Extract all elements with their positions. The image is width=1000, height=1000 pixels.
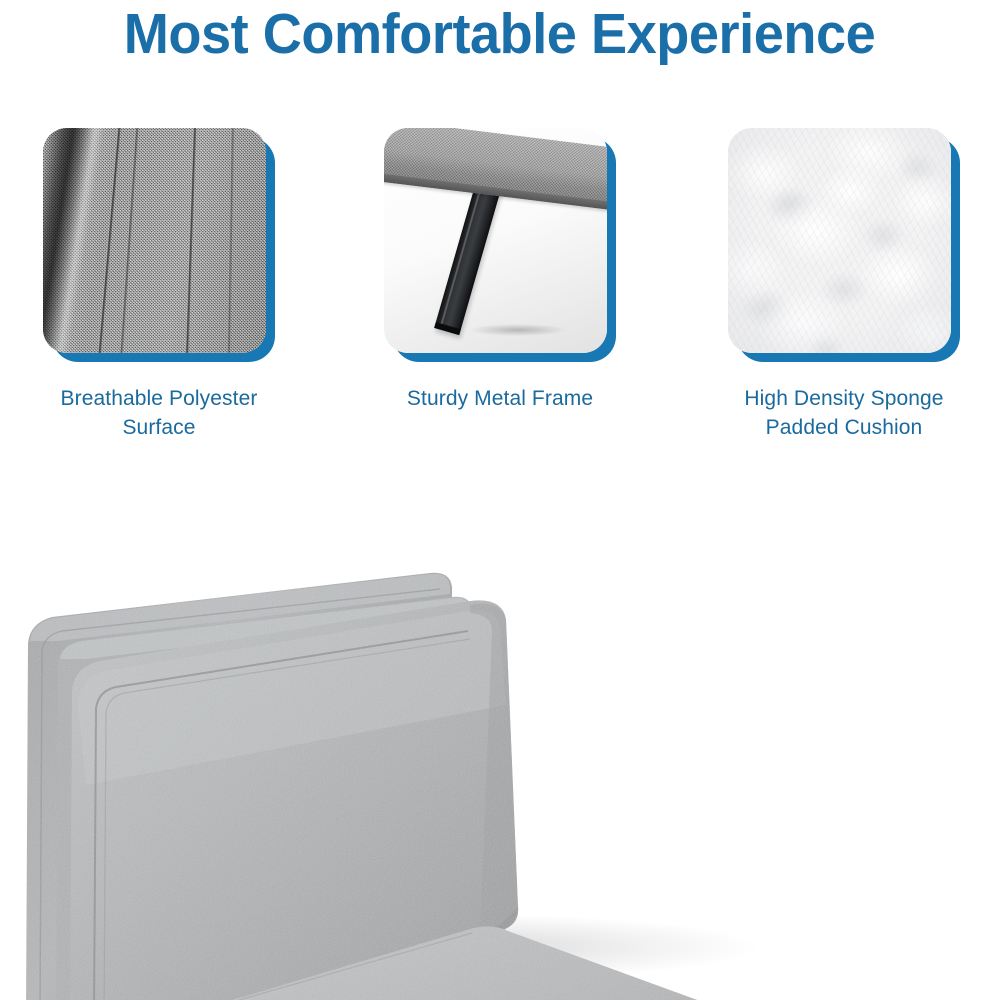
feature-thumbnail-wrap: [384, 128, 616, 362]
polyester-fabric-image: [43, 128, 266, 353]
feature-caption-line: Breathable Polyester: [20, 384, 298, 413]
feature-card-high-density-sponge-padded-cushion: High Density Sponge Padded Cushion: [705, 128, 983, 442]
feature-card-breathable-polyester-surface: Breathable Polyester Surface: [20, 128, 298, 442]
headline-banner: Most Comfortable Experience: [0, 0, 1000, 68]
feature-caption-line: Surface: [20, 413, 298, 442]
feature-caption: Breathable Polyester Surface: [20, 384, 298, 442]
feature-caption-line: High Density Sponge: [705, 384, 983, 413]
feature-row: Breathable Polyester Surface: [0, 128, 1000, 448]
feature-thumbnail-wrap: [728, 128, 960, 362]
page-title: Most Comfortable Experience: [124, 5, 875, 63]
metal-frame-image: [384, 128, 607, 353]
feature-caption: Sturdy Metal Frame: [361, 384, 639, 413]
feature-card-sturdy-metal-frame: Sturdy Metal Frame: [361, 128, 639, 413]
feature-caption-line: Padded Cushion: [705, 413, 983, 442]
feature-caption: High Density Sponge Padded Cushion: [705, 384, 983, 442]
feature-thumbnail-wrap: [43, 128, 275, 362]
feature-caption-line: Sturdy Metal Frame: [361, 384, 639, 413]
product-infographic: Most Comfortable Experience: [0, 0, 1000, 1000]
floor-contact-shadow: [470, 324, 566, 336]
folding-floor-sofa-illustration: [0, 455, 1000, 1000]
sponge-vignette: [728, 128, 951, 353]
sponge-fill-image: [728, 128, 951, 353]
product-hero-image: [0, 455, 1000, 1000]
